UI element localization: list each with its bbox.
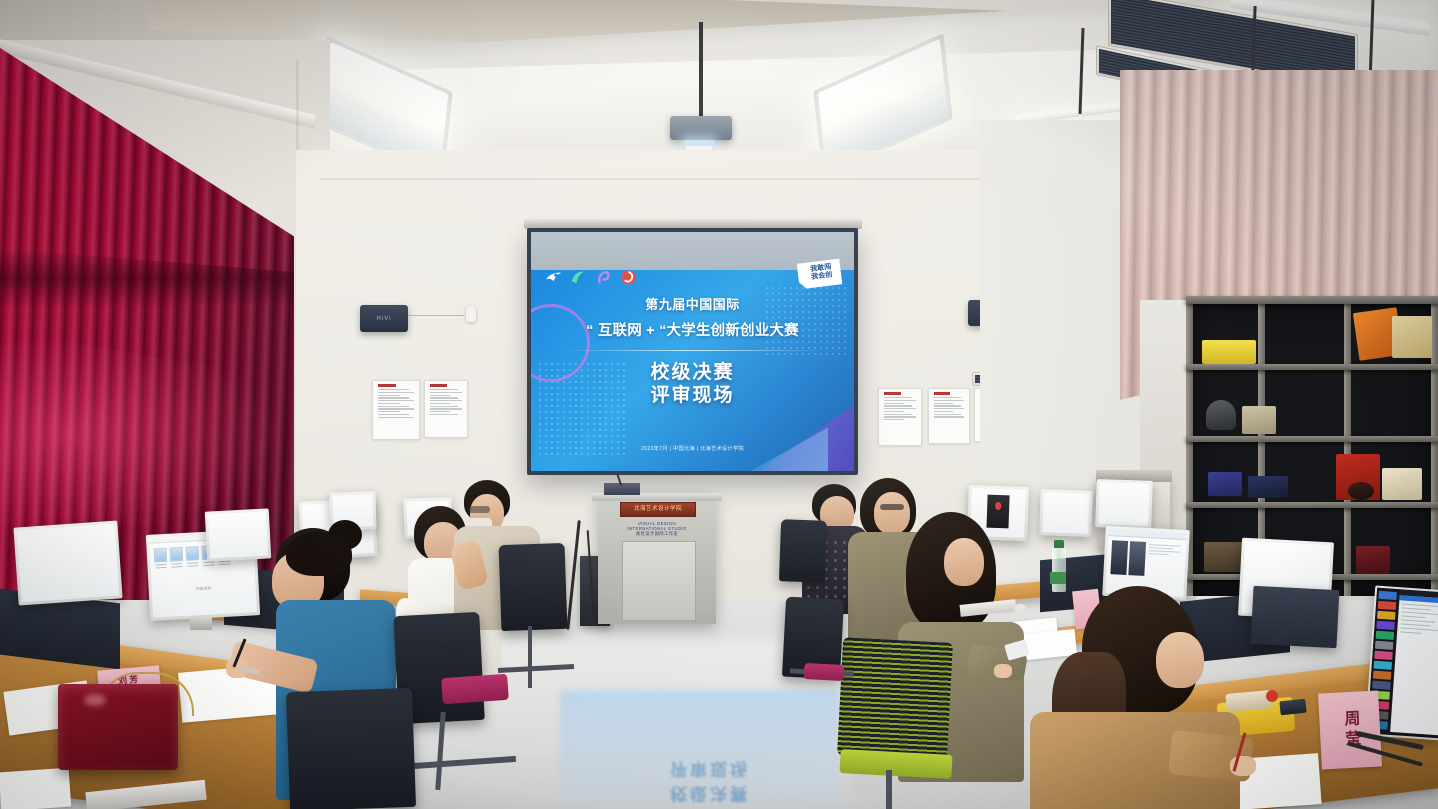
projector-mount-rod xyxy=(699,22,703,118)
wall-seam-top xyxy=(320,178,990,180)
chair-right-3[interactable] xyxy=(779,519,827,583)
ribbon-line-2: 我会创 xyxy=(811,271,833,281)
speaker-cable-left xyxy=(408,315,464,316)
logo-bird-icon xyxy=(544,268,563,287)
chair-seat-right-2 xyxy=(804,663,845,681)
chair-mesh-right-1[interactable] xyxy=(837,637,953,761)
shelf-item-cream-box xyxy=(1392,316,1432,358)
reflected-slide-text: 校级决赛 评审现场 xyxy=(620,758,800,808)
shelf-item-dark-vase xyxy=(1206,400,1236,430)
shelf-item-light-box xyxy=(1382,468,1422,500)
wall-speaker-left: HiVi xyxy=(360,305,408,332)
monitor-left-main-stand xyxy=(190,616,212,630)
monitor-right-c-screen xyxy=(1098,482,1149,526)
slide-logo-row xyxy=(544,268,638,287)
chair-leg xyxy=(886,770,892,809)
eyeglasses xyxy=(880,504,904,510)
monitor-left-back-screen xyxy=(17,524,120,603)
slide-triangle-cyan xyxy=(731,409,828,471)
file-thumbnail[interactable] xyxy=(186,546,200,561)
lectern-cabinet-door[interactable] xyxy=(622,541,696,621)
taskbar-icon[interactable] xyxy=(1375,641,1393,650)
lectern-plaque-cn: 北海艺术设计学院 xyxy=(620,502,696,517)
chair-seat-left-1 xyxy=(441,674,509,705)
handbag-highlight xyxy=(84,694,106,706)
file-thumbnail[interactable] xyxy=(170,547,184,562)
monitor-right-back-panel xyxy=(1251,586,1340,648)
projection-screen-surface: 我敢闯 我会创 第九届中国国际 “ 互联网 + “大学生创新创业大赛 校级决赛 … xyxy=(531,232,854,471)
water-bottle-label xyxy=(1050,572,1066,584)
chair-left-2[interactable] xyxy=(499,543,568,631)
slide-headline-line-2: 评审现场 xyxy=(531,384,854,407)
slide-headline-line-1: 校级决赛 xyxy=(531,361,854,384)
taskbar-icon[interactable] xyxy=(1374,651,1392,660)
taskbar-icon[interactable] xyxy=(1376,631,1394,640)
reflected-line-1: 校级决赛 xyxy=(620,783,800,808)
wall-notice-right-2 xyxy=(928,388,970,444)
taskbar-icon[interactable] xyxy=(1378,601,1396,610)
lectern-plaque-en: VISUAL DESIGN INTERNATIONAL STUDIO 视觉设计国… xyxy=(598,521,716,536)
taskbar-icon[interactable] xyxy=(1372,681,1390,690)
speaker-brand-label: HiVi xyxy=(377,316,392,322)
monitor-left-back[interactable] xyxy=(13,520,122,605)
wall-notice-left-1 xyxy=(372,380,420,440)
taskbar-icon[interactable] xyxy=(1377,611,1395,620)
shelf-item-blue-box xyxy=(1208,472,1242,496)
chair-left-3[interactable] xyxy=(286,688,416,809)
slide-competition-name: “ 互联网 + “大学生创新创业大赛 xyxy=(531,319,854,340)
security-camera-icon xyxy=(466,306,476,322)
taskbar-icon[interactable] xyxy=(1378,591,1396,600)
taskbar-icon[interactable] xyxy=(1374,661,1392,670)
monitor-caption: 评审资料 xyxy=(152,583,256,594)
chair-leg xyxy=(528,626,532,688)
taskbar-icon[interactable] xyxy=(1376,621,1394,630)
projection-screen: 我敢闯 我会创 第九届中国国际 “ 互联网 + “大学生创新创业大赛 校级决赛 … xyxy=(527,228,858,475)
shelf-item-yellow-jars xyxy=(1202,340,1256,364)
taskbar-icon[interactable] xyxy=(1373,671,1391,680)
shelf-item-maroon-bag xyxy=(1356,546,1390,574)
person-face xyxy=(944,538,984,586)
handbag xyxy=(58,684,178,770)
slide-headline: 校级决赛 评审现场 xyxy=(531,361,854,407)
smartphone-on-desk[interactable] xyxy=(1279,699,1306,716)
reflected-line-2: 评审现场 xyxy=(620,758,800,783)
lectern-en-line-3: 视觉设计国际工作室 xyxy=(598,531,716,536)
red-round-item xyxy=(1266,690,1278,702)
slide-divider xyxy=(560,350,825,351)
lectern: 北海艺术设计学院 VISUAL DESIGN INTERNATIONAL STU… xyxy=(598,493,716,624)
shelf-item-basket xyxy=(1242,406,1276,434)
monitor-right-b-screen xyxy=(1042,492,1089,534)
monitor-right-b[interactable] xyxy=(1039,489,1093,537)
water-bottle-cap xyxy=(1054,540,1064,548)
monitor-right-c[interactable] xyxy=(1095,479,1153,529)
person-judge-camel xyxy=(1030,586,1250,809)
person-hand xyxy=(994,664,1012,678)
slide-event-line: 第九届中国国际 xyxy=(531,294,854,313)
eyeglasses xyxy=(468,506,490,513)
file-thumbnail[interactable] xyxy=(154,548,168,563)
person-face xyxy=(1156,632,1204,688)
slide-footer: 2023年7月 | 中国北海 | 北海艺术设计学院 xyxy=(531,445,854,452)
wall-notice-left-2 xyxy=(424,380,468,438)
logo-swirl-icon xyxy=(594,268,613,287)
paper-sheet-left-3 xyxy=(0,768,71,809)
classroom-photo: HiVi HiVi xyxy=(0,0,1438,809)
logo-wave-icon xyxy=(569,268,588,287)
logo-spiral-icon xyxy=(619,268,638,287)
wall-notice-right-1 xyxy=(878,388,922,446)
shelf-item-dark-bowl xyxy=(1348,482,1374,500)
person-hair-front xyxy=(286,532,352,576)
projector xyxy=(670,116,732,140)
shelf-item-navy-fabric xyxy=(1248,476,1288,498)
namecard-right: 周莹 xyxy=(1318,690,1382,769)
